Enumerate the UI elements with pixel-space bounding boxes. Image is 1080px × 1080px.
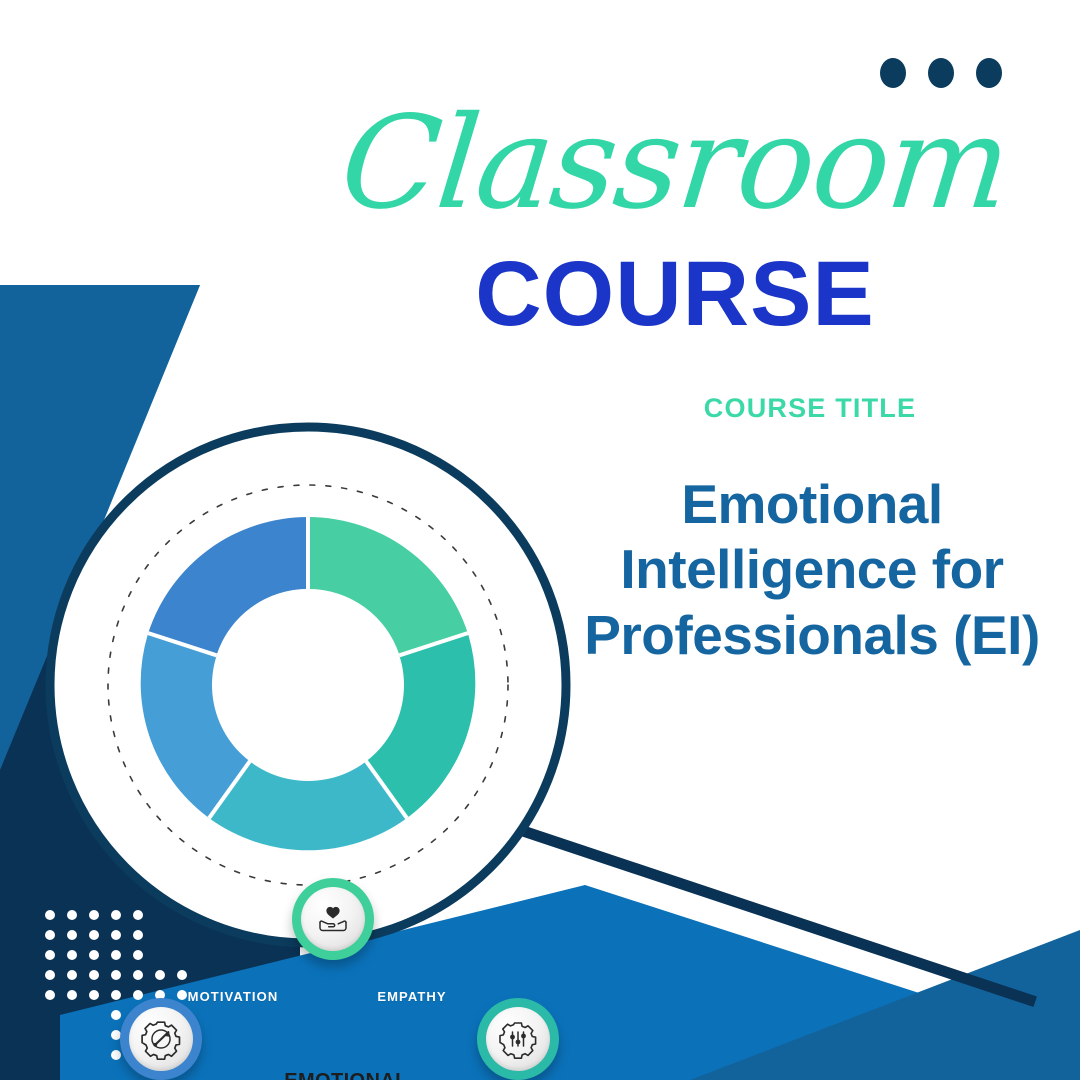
node-empathy-disc <box>301 887 365 951</box>
course-title-text: Emotional Intelligence for Professionals… <box>578 472 1046 668</box>
node-empathy[interactable] <box>292 878 374 960</box>
course-headline: COURSE <box>330 248 1020 340</box>
node-motivation[interactable] <box>120 998 202 1080</box>
course-title-label: COURSE TITLE <box>600 393 1020 424</box>
node-social-skills-disc <box>486 1007 550 1071</box>
dot-1-icon <box>880 58 906 88</box>
top-right-dots <box>880 58 1002 88</box>
segment-label-empathy: EMPATHY <box>347 989 477 1005</box>
emotional-intelligence-infographic: MOTIVATION EMPATHY SOCIAL SKILLS SELF- A… <box>34 420 582 960</box>
node-social-skills[interactable] <box>477 998 559 1080</box>
wheel-core-circle <box>212 589 404 781</box>
gear-sliders-icon <box>498 1019 538 1059</box>
dot-2-icon <box>928 58 954 88</box>
dot-3-icon <box>976 58 1002 88</box>
heart-in-hands-icon <box>313 899 353 939</box>
poster-canvas: Classroom COURSE COURSE TITLE Emotional … <box>0 0 1080 1080</box>
wheel-core-label: EMOTIONAL INTELLIGENCE <box>260 1070 432 1080</box>
infographic-wheel <box>34 420 582 960</box>
node-motivation-disc <box>129 1007 193 1071</box>
gear-arrow-icon <box>140 1018 182 1060</box>
segment-label-motivation: MOTIVATION <box>165 989 301 1005</box>
script-headline: Classroom <box>323 100 1026 228</box>
